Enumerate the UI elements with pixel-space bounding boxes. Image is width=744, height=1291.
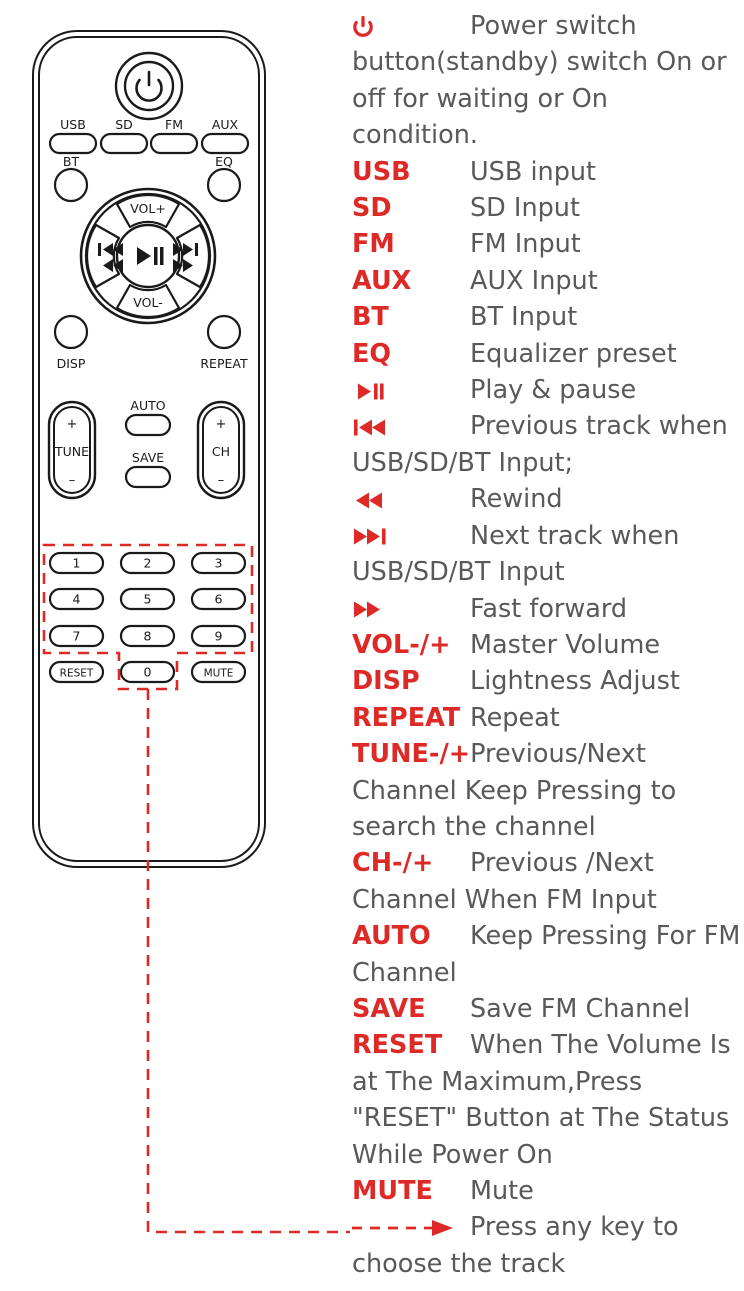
svg-text:4: 4 [73, 592, 81, 607]
remote-label-sd: SD [115, 117, 133, 132]
remote-button-fm[interactable] [151, 134, 197, 153]
remote-label-tune-plus: + [67, 417, 78, 432]
legend-key-fm: FM [352, 226, 470, 262]
legend-key-save: SAVE [352, 991, 470, 1027]
remote-label-fm: FM [165, 117, 183, 132]
legend-key-reset: RESET [352, 1027, 470, 1063]
legend-entry-mute: MUTEMute [352, 1173, 742, 1209]
remote-button-prev[interactable] [87, 225, 119, 287]
legend-entry-play-pause: Play & pause [352, 372, 742, 408]
play-pause-icon-key [352, 372, 470, 408]
remote-label-ch: CH [212, 444, 230, 459]
remote-label-bt: BT [63, 154, 80, 169]
remote-label-tune: TUNE [54, 444, 89, 459]
power-icon [352, 15, 374, 39]
legend-desc-save: Save FM Channel [470, 994, 690, 1024]
svg-text:3: 3 [215, 556, 223, 571]
remote-keypad: 1 2 3 4 5 6 7 8 9 RESET 0 MUTE [50, 553, 245, 682]
legend-desc-repeat: Repeat [470, 703, 560, 733]
dashed-arrow-icon [352, 1218, 456, 1238]
remote-label-tune-minus: – [69, 473, 76, 488]
remote-label-disp: DISP [57, 356, 86, 371]
remote-power-button[interactable] [116, 53, 182, 119]
remote-button-bt[interactable] [55, 169, 87, 201]
svg-text:5: 5 [144, 592, 152, 607]
rewind-icon-key [352, 481, 470, 517]
fast-forward-icon-key [352, 591, 470, 627]
legend-entry-save: SAVESave FM Channel [352, 991, 742, 1027]
legend-entry-auto: AUTOKeep Pressing For FM Channel [352, 918, 742, 991]
legend-desc-play-pause: Play & pause [470, 375, 636, 405]
remote-button-eq[interactable] [208, 169, 240, 201]
svg-text:9: 9 [215, 629, 223, 644]
remote-auto-save-buttons: AUTO SAVE [126, 398, 170, 487]
legend-entry-reset: RESETWhen The Volume Is at The Maximum,P… [352, 1027, 742, 1173]
legend-entry-bt: BTBT Input [352, 299, 742, 335]
legend-desc-rewind: Rewind [470, 484, 563, 514]
power-icon-key [352, 8, 470, 44]
svg-text:6: 6 [215, 592, 223, 607]
svg-text:8: 8 [144, 629, 152, 644]
legend-desc-mute: Mute [470, 1176, 534, 1206]
legend-desc-disp: Lightness Adjust [470, 666, 680, 696]
remote-label-save: SAVE [132, 450, 164, 465]
legend-entry-prev-track: Previous track when USB/SD/BT Input; [352, 408, 742, 481]
legend-key-disp: DISP [352, 663, 470, 699]
svg-text:RESET: RESET [60, 668, 94, 680]
fast-forward-icon [354, 600, 383, 619]
remote-button-next[interactable] [177, 225, 209, 287]
legend-entry-sd: SDSD Input [352, 190, 742, 226]
legend-key-auto: AUTO [352, 918, 470, 954]
power-icon [137, 72, 162, 101]
next-track-icon [354, 527, 388, 546]
legend-key-volume: VOL-/+ [352, 627, 470, 663]
dashed-arrow-icon-key [352, 1209, 470, 1245]
remote-label-eq: EQ [215, 154, 233, 169]
remote-button-auto[interactable] [126, 415, 170, 435]
svg-text:7: 7 [73, 629, 81, 644]
play-pause-icon [358, 382, 388, 401]
legend-entry-power: Power switch button(standby) switch On o… [352, 8, 742, 154]
play-pause-icon [137, 247, 164, 265]
next-track-icon-key [352, 518, 470, 554]
legend-key-tune: TUNE-/+ [352, 736, 470, 772]
legend-entry-tune: TUNE-/+Previous/Next Channel Keep Pressi… [352, 736, 742, 845]
legend-entry-fm: FMFM Input [352, 226, 742, 262]
legend-desc-fast-forward: Fast forward [470, 594, 627, 624]
remote-label-usb: USB [60, 117, 86, 132]
legend-entry-disp: DISPLightness Adjust [352, 663, 742, 699]
legend-entry-fast-forward: Fast forward [352, 591, 742, 627]
svg-text:2: 2 [144, 556, 152, 571]
callout-leader-line [148, 689, 350, 1242]
legend-desc-eq: Equalizer preset [470, 339, 677, 369]
remote-rocker-tune[interactable]: + TUNE – [49, 402, 95, 498]
legend-desc-aux: AUX Input [470, 266, 598, 296]
legend-entry-volume: VOL-/+Master Volume [352, 627, 742, 663]
prev-track-icon [354, 418, 388, 437]
prev-track-icon-key [352, 408, 470, 444]
remote-disp-repeat-buttons: DISP REPEAT [55, 316, 248, 371]
remote-label-vol-up: VOL+ [130, 201, 166, 216]
legend-entry-any-key: Press any key to choose the track [352, 1209, 742, 1282]
legend-entry-next-track: Next track when USB/SD/BT Input [352, 518, 742, 591]
legend-entry-usb: USBUSB input [352, 154, 742, 190]
legend-desc-fm: FM Input [470, 229, 581, 259]
remote-label-vol-down: VOL- [133, 295, 162, 310]
legend-desc-volume: Master Volume [470, 630, 660, 660]
legend-key-eq: EQ [352, 336, 470, 372]
legend-entry-ch: CH-/+Previous /Next Channel When FM Inpu… [352, 845, 742, 918]
legend-entry-aux: AUXAUX Input [352, 263, 742, 299]
legend-list: Power switch button(standby) switch On o… [352, 8, 742, 1282]
remote-label-aux: AUX [212, 117, 239, 132]
remote-label-ch-minus: – [218, 473, 225, 488]
svg-text:0: 0 [144, 665, 152, 680]
legend-key-repeat: REPEAT [352, 700, 470, 736]
rewind-icon [356, 491, 385, 510]
legend-entry-eq: EQEqualizer preset [352, 336, 742, 372]
remote-label-ch-plus: + [216, 417, 227, 432]
legend-entry-repeat: REPEATRepeat [352, 700, 742, 736]
remote-label-repeat: REPEAT [200, 356, 248, 371]
remote-button-disp[interactable] [55, 316, 87, 348]
remote-rocker-ch[interactable]: + CH – [198, 402, 244, 498]
legend-key-aux: AUX [352, 263, 470, 299]
legend-key-ch: CH-/+ [352, 845, 470, 881]
remote-button-save[interactable] [126, 467, 170, 487]
legend-desc-sd: SD Input [470, 193, 580, 223]
legend-desc-bt: BT Input [470, 302, 577, 332]
legend-key-usb: USB [352, 154, 470, 190]
legend-entry-rewind: Rewind [352, 481, 742, 517]
remote-source-buttons: USB SD FM AUX [50, 117, 248, 153]
legend-key-mute: MUTE [352, 1173, 470, 1209]
legend-key-bt: BT [352, 299, 470, 335]
remote-illustration: USB SD FM AUX BT EQ VOL+ VOL- [0, 0, 350, 1291]
svg-text:1: 1 [73, 556, 81, 571]
remote-nav-wheel: VOL+ VOL- [81, 189, 215, 323]
remote-button-usb[interactable] [50, 134, 96, 153]
svg-text:MUTE: MUTE [204, 668, 234, 680]
remote-button-repeat[interactable] [208, 316, 240, 348]
remote-label-auto: AUTO [130, 398, 165, 413]
remote-button-sd[interactable] [101, 134, 147, 153]
remote-diagram-panel: USB SD FM AUX BT EQ VOL+ VOL- [0, 0, 350, 1291]
legend-desc-usb: USB input [470, 157, 596, 187]
legend-key-sd: SD [352, 190, 470, 226]
remote-button-aux[interactable] [202, 134, 248, 153]
